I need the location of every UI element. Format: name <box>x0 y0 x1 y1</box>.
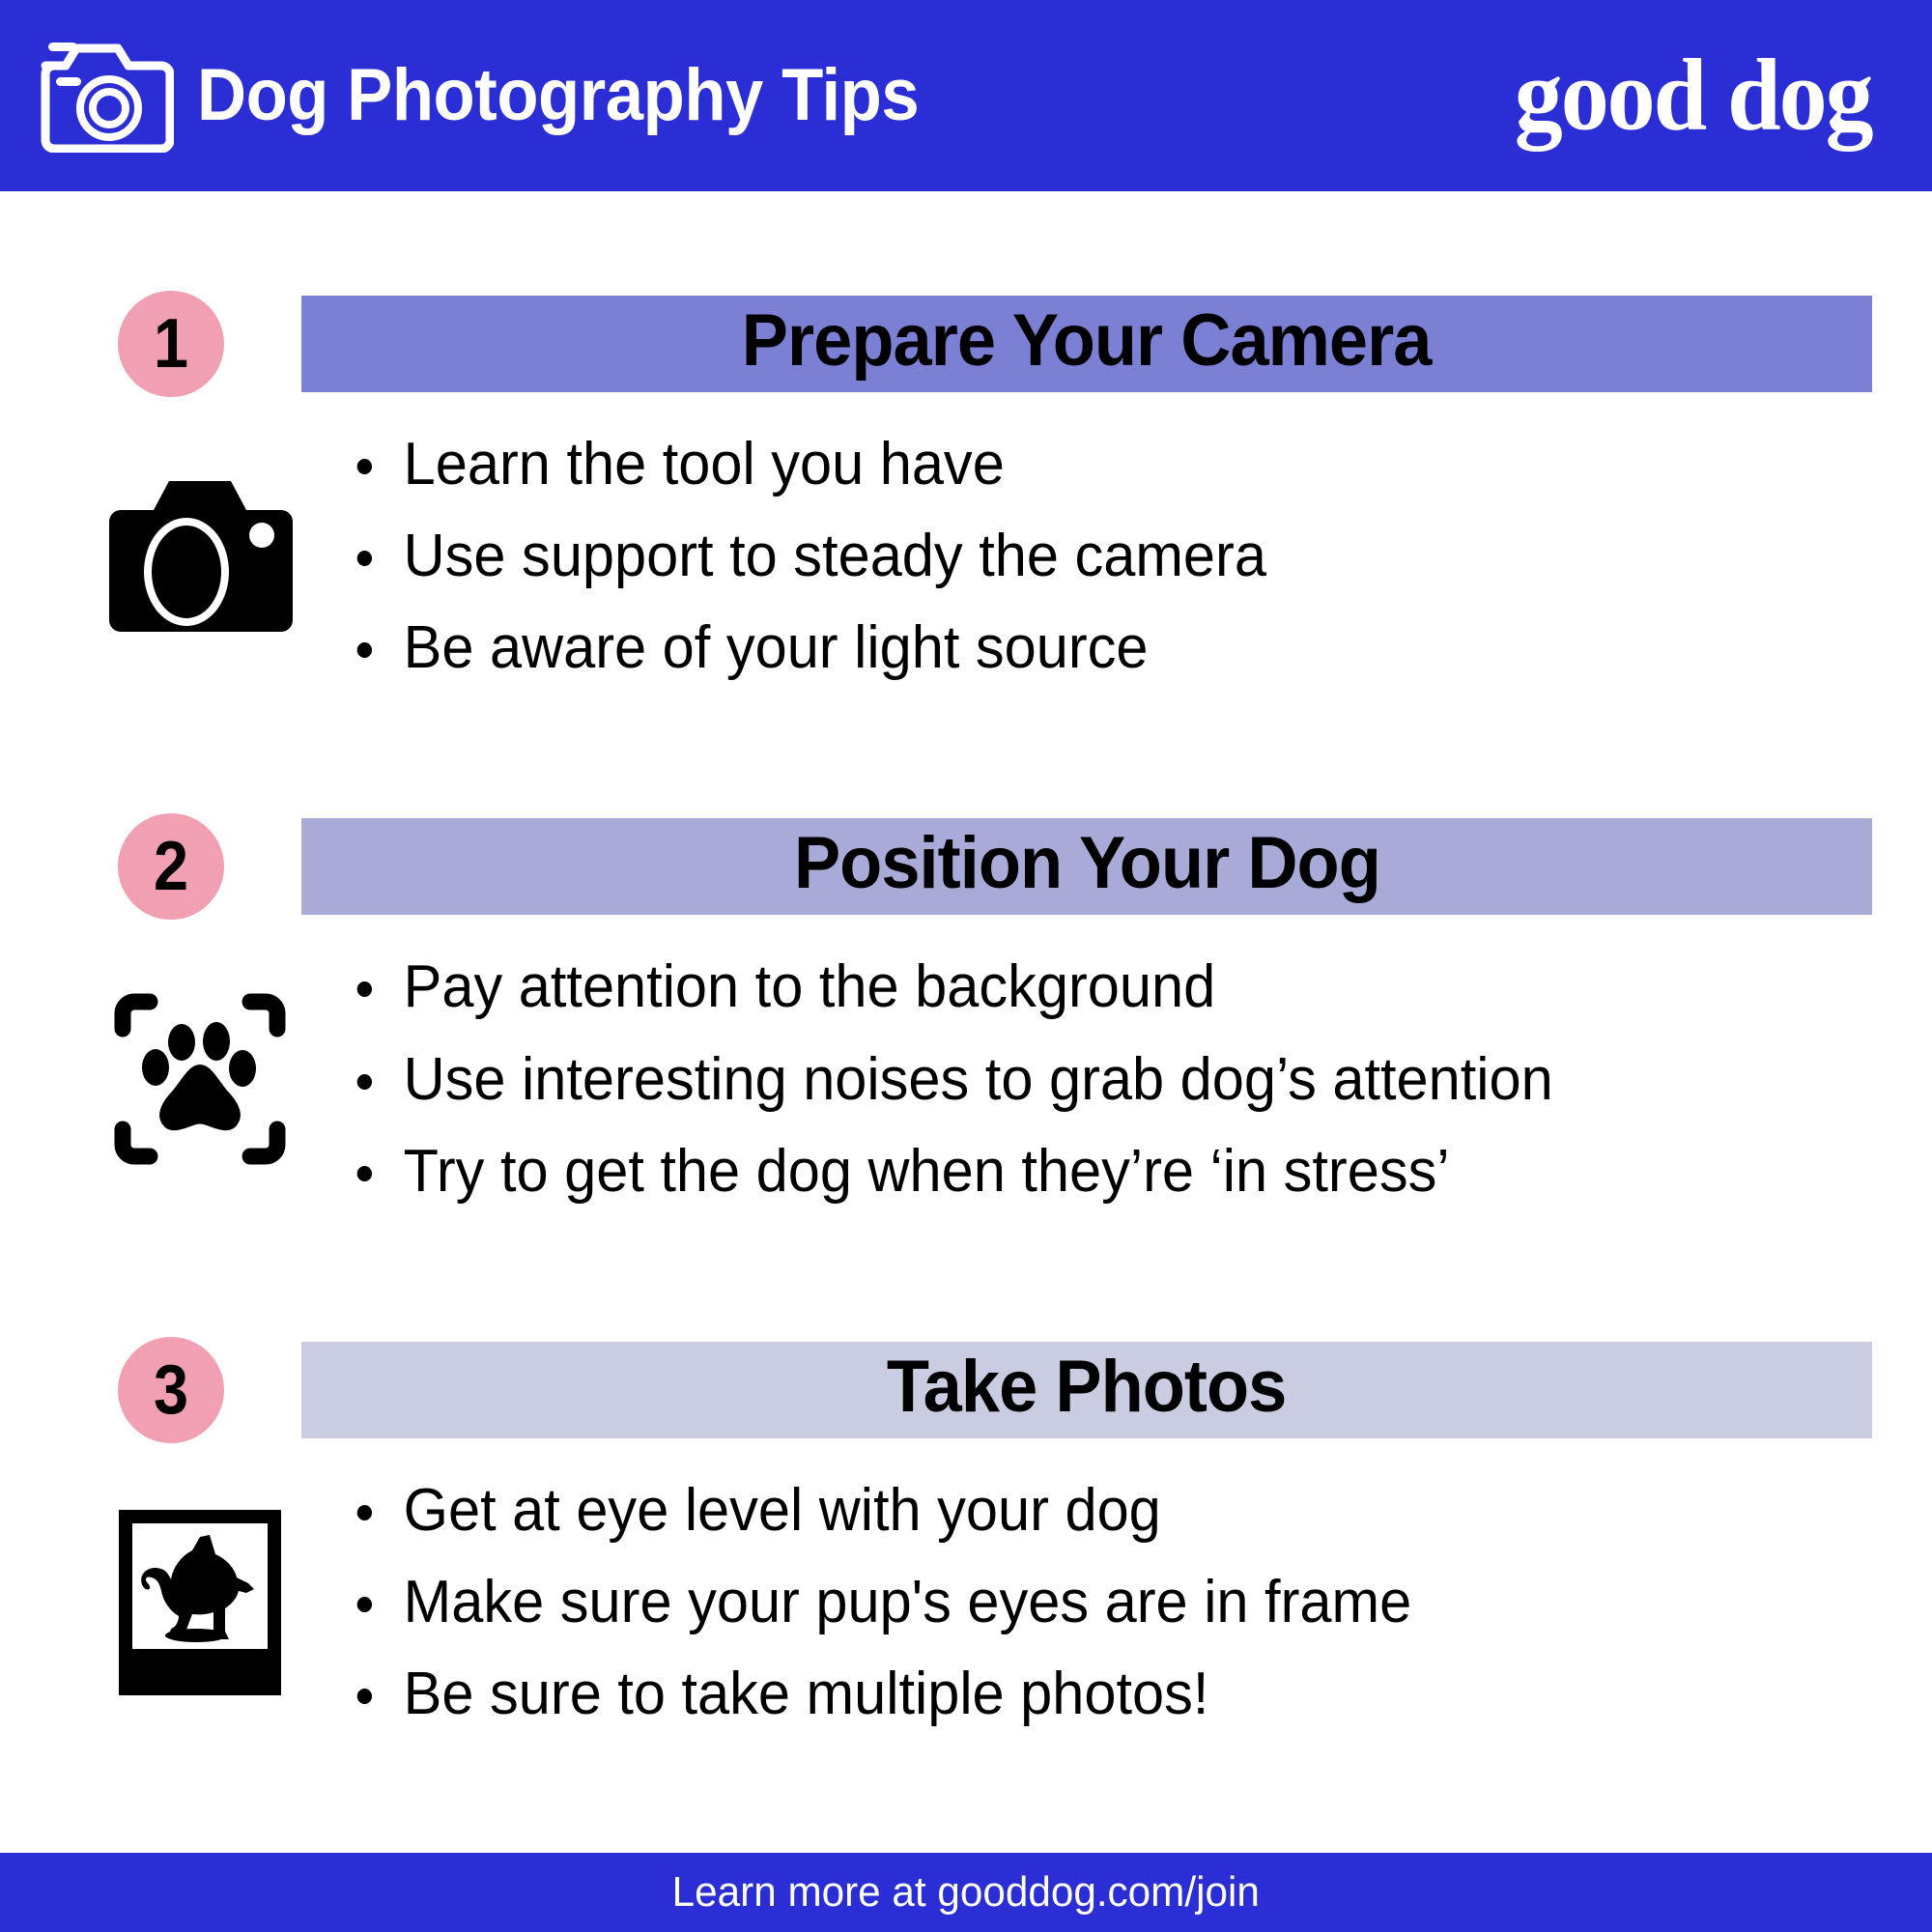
section-icon-2 <box>60 988 340 1170</box>
section-title-2: Position Your Dog <box>794 827 1380 900</box>
tips-list-1: Learn the tool you have Use support to s… <box>340 429 1872 683</box>
section-header-3: 3 Take Photos <box>60 1342 1872 1438</box>
list-item: Get at eye level with your dog <box>350 1475 1811 1546</box>
section-prepare-your-camera: 1 Prepare Your Camera Learn the tool you… <box>60 191 1872 683</box>
section-icon-1 <box>60 475 340 638</box>
section-icon-3 <box>60 1508 340 1697</box>
paw-focus-frame-icon <box>109 988 291 1170</box>
page-header: Dog Photography Tips good dog <box>0 0 1932 191</box>
brand-logo: good dog <box>1515 44 1872 147</box>
step-number-2: 2 <box>154 832 188 901</box>
section-title-1: Prepare Your Camera <box>742 304 1432 378</box>
content-area: 1 Prepare Your Camera Learn the tool you… <box>0 191 1932 1853</box>
step-badge-3: 3 <box>118 1337 224 1443</box>
section-title-band-1: Prepare Your Camera <box>301 296 1872 392</box>
section-body-1: Learn the tool you have Use support to s… <box>60 392 1872 683</box>
section-title-band-2: Position Your Dog <box>301 818 1872 915</box>
list-item: Try to get the dog when they’re ‘in stre… <box>350 1136 1811 1207</box>
section-title-band-3: Take Photos <box>301 1342 1872 1438</box>
section-title-3: Take Photos <box>887 1350 1286 1424</box>
section-header-2: 2 Position Your Dog <box>60 818 1872 915</box>
tips-list-3: Get at eye level with your dog Make sure… <box>340 1475 1872 1729</box>
step-badge-1: 1 <box>118 291 224 397</box>
section-position-your-dog: 2 Position Your Dog <box>60 683 1872 1206</box>
camera-solid-icon <box>103 475 297 638</box>
page-title: Dog Photography Tips <box>197 59 919 132</box>
infographic-poster: Dog Photography Tips good dog 1 Prepare … <box>0 0 1932 1932</box>
step-number-3: 3 <box>154 1355 188 1425</box>
section-header-1: 1 Prepare Your Camera <box>60 296 1872 392</box>
list-item: Pay attention to the background <box>350 952 1811 1022</box>
list-item: Make sure your pup's eyes are in frame <box>350 1567 1811 1637</box>
section-body-2: Pay attention to the background Use inte… <box>60 915 1872 1206</box>
list-item: Be sure to take multiple photos! <box>350 1659 1811 1729</box>
page-footer: Learn more at gooddog.com/join <box>0 1853 1932 1932</box>
section-take-photos: 3 Take Photos Get at eye level with yo <box>60 1207 1872 1729</box>
list-item: Use interesting noises to grab dog’s att… <box>350 1044 1811 1115</box>
camera-outline-icon <box>37 39 174 153</box>
tips-list-2: Pay attention to the background Use inte… <box>340 952 1872 1206</box>
list-item: Use support to steady the camera <box>350 521 1811 591</box>
polaroid-dog-photo-icon <box>117 1508 283 1697</box>
step-badge-2: 2 <box>118 813 224 920</box>
step-number-1: 1 <box>154 309 188 379</box>
section-body-3: Get at eye level with your dog Make sure… <box>60 1438 1872 1729</box>
footer-link[interactable]: Learn more at gooddog.com/join <box>672 1871 1260 1914</box>
list-item: Be aware of your light source <box>350 612 1811 683</box>
list-item: Learn the tool you have <box>350 429 1811 499</box>
